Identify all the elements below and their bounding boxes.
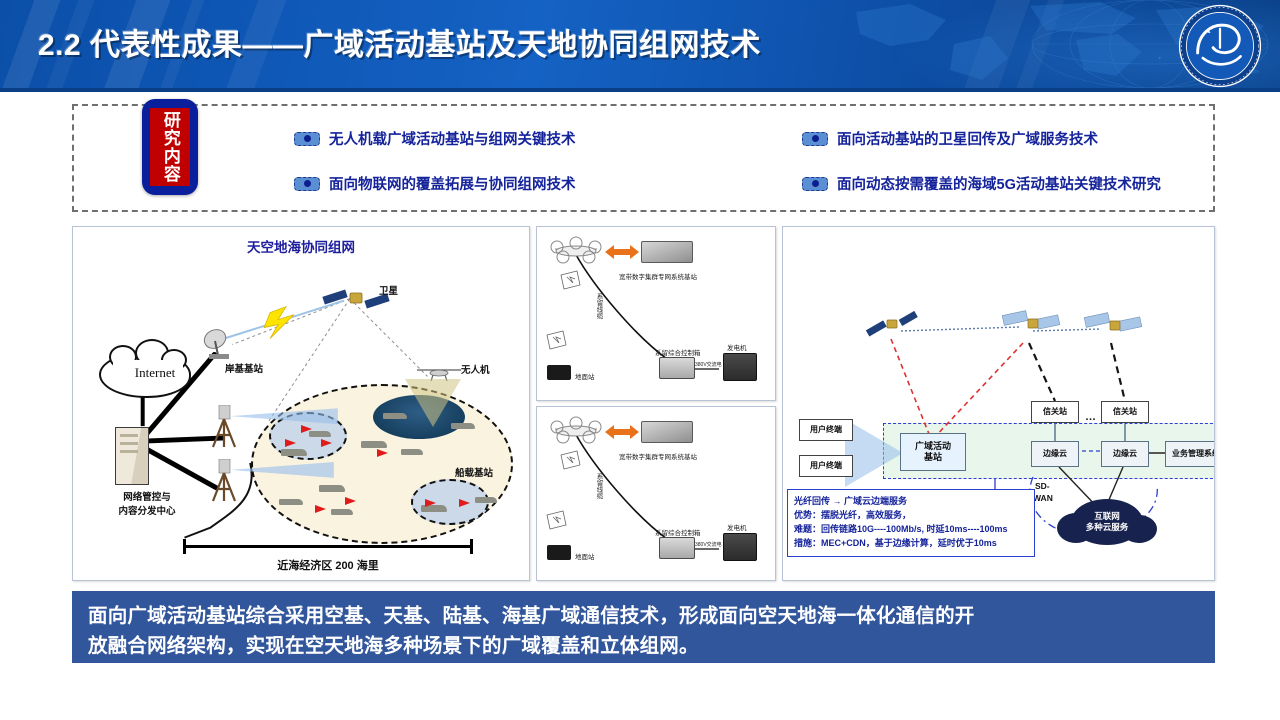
summary-line-2: 放融合网络架构，实现在空天地海多种场景下的广域覆盖和立体组网。 [88,631,1199,661]
ship-station-label: 船载基站 [455,465,493,479]
ship-icon [281,449,307,456]
control-cabinet-icon [659,357,695,379]
panel-sky-sea-network: 天空地海协同组网 [72,226,530,581]
ground-tower-icon-2 [205,459,245,503]
power-label: 380V交流电 [695,361,722,368]
sdwan-label-line1: SD- [1035,481,1050,491]
bullet-dot-icon [294,177,320,191]
generator-icon [723,353,757,381]
service-management-label: 业务管理系统 [1172,449,1215,458]
gateway-station-node-2[interactable]: 信关站 [1101,401,1149,423]
bullet-dot-icon [294,132,320,146]
ship-icon [361,441,387,448]
page-title: 2.2 代表性成果——广域活动基站及天地协同组网技术 [38,20,761,64]
note-line-2: 优势：摆脱光纤，高效服务， [794,509,1028,523]
control-center-label-line1: 网络管控与 [101,489,193,503]
tether-cable-label: 系留线缆 [593,293,603,319]
research-item-2-label: 面向物联网的覆盖拓展与协同组网技术 [329,173,576,194]
control-cabinet-label: 系留综合控制箱 [655,527,701,537]
uav-coverage-beam [405,379,461,427]
research-item-1[interactable]: 无人机载广域活动基站与组网关键技术 [294,128,576,149]
research-item-2[interactable]: 面向物联网的覆盖拓展与协同组网技术 [294,173,576,194]
base-station-unit-icon [641,241,693,263]
edge-cloud-node-2[interactable]: 边缘云 [1101,441,1149,467]
internet-cloud-text: Internet [123,363,187,383]
edge-cloud-node-2-label: 边缘云 [1113,449,1137,458]
wide-area-base-station-label-1: 广域活动 [915,441,951,452]
edge-cloud-node-1-label: 边缘云 [1043,449,1067,458]
research-content-badge-inner: 研究内容 [150,108,190,186]
satellite-icon-right [1083,309,1143,345]
wide-area-base-station-node[interactable]: 广域活动 基站 [900,433,966,471]
satellite-icon-center [1001,307,1061,343]
gateway-station-node-2-label: 信关站 [1113,407,1137,416]
generator-label: 发电机 [727,342,747,352]
ground-station-laptop-icon [547,365,571,380]
satellite-dish-icon [199,327,237,363]
ship-icon [331,509,353,515]
ship-icon [309,431,331,437]
research-content-box: 研究内容 无人机载广域活动基站与组网关键技术 面向物联网的覆盖拓展与协同组网技术… [72,104,1215,212]
scale-label: 近海经济区 200 海里 [183,557,473,573]
summary-banner: 面向广域活动基站综合采用空基、天基、陆基、海基广域通信技术，形成面向空天地海一体… [72,591,1215,663]
control-cabinet-label: 系留综合控制箱 [655,347,701,357]
internet-cloud-label-2: 多种云服务 [1086,522,1129,533]
bullet-dot-icon [802,132,828,146]
ship-icon [401,449,423,455]
research-item-3[interactable]: 面向活动基站的卫星回传及广域服务技术 [802,128,1098,149]
generator-icon [723,533,757,561]
gateway-station-node-1-label: 信关站 [1043,407,1067,416]
link-arrow-icon [377,449,388,457]
slide-header: 2.2 代表性成果——广域活动基站及天地协同组网技术 [0,0,1280,88]
research-item-4[interactable]: 面向动态按需覆盖的海域5G活动基站关键技术研究 [802,173,1161,194]
power-label: 380V交流电 [695,541,722,548]
summary-line-1: 面向广域活动基站综合采用空基、天基、陆基、海基广域通信技术，形成面向空天地海一体… [88,601,1199,631]
ground-tower-icon-1 [205,405,245,449]
note-line-1: 光纤回传 → 广域云边端服务 [794,495,1028,509]
note-line-4: 措施：MEC+CDN，基于边缘计算，延时优于10ms [794,537,1028,551]
header-divider [0,88,1280,92]
link-double-arrow-icon [613,429,631,435]
gateway-ellipsis: … [1085,411,1096,423]
link-arrow-icon [285,439,296,447]
base-station-unit-icon [641,421,693,443]
fiber-backhaul-note: 光纤回传 → 广域云边端服务 优势：摆脱光纤，高效服务， 难题：回传链路10G-… [787,489,1035,557]
service-management-node[interactable]: 业务管理系统 [1165,441,1215,467]
ground-station-label: 地面站 [575,371,595,381]
network-control-center-icon [115,427,149,485]
user-terminal-node-1[interactable]: 用户终端 [799,419,853,441]
research-item-4-label: 面向动态按需覆盖的海域5G活动基站关键技术研究 [837,173,1161,194]
research-content-badge-label: 研究内容 [161,111,179,183]
internet-cloud-label-1: 互联网 [1086,511,1129,522]
edge-cloud-node-1[interactable]: 边缘云 [1031,441,1079,467]
note-line-3: 难题：回传链路10G----100Mb/s, 时延10ms----100ms [794,523,1028,537]
user-terminal-node-1-label: 用户终端 [810,425,842,434]
base-station-label: 宽带数字集群专网系统基站 [619,271,697,281]
ground-station-label: 地面站 [575,551,595,561]
bullet-dot-icon [802,177,828,191]
internet-cloud-node: 互联网 多种云服务 [1071,499,1143,545]
research-content-badge: 研究内容 [142,99,198,195]
link-arrow-icon [321,439,332,447]
research-item-1-label: 无人机载广域活动基站与组网关键技术 [329,128,576,149]
panel-tethered-uav-b: 宽带数字集群专网系统基站 系留线缆 地面站 系留综合控制箱 发电机 380V交流… [536,406,776,581]
panel-satellite-backhaul: 用户终端 用户终端 广域活动 基站 信关站 … 信关站 边缘云 边缘云 业务管理… [782,226,1215,581]
wide-area-base-station-label-2: 基站 [915,452,951,463]
tether-cable-label: 系留线缆 [593,473,603,499]
link-arrow-icon [301,425,312,433]
shore-station-label: 岸基基站 [225,361,263,375]
base-station-label: 宽带数字集群专网系统基站 [619,451,697,461]
link-arrow-icon [345,497,356,505]
user-terminal-node-2[interactable]: 用户终端 [799,455,853,477]
research-item-3-label: 面向活动基站的卫星回传及广域服务技术 [837,128,1098,149]
ship-icon [319,485,345,492]
link-double-arrow-icon [613,249,631,255]
link-arrow-icon [425,499,436,507]
ground-station-laptop-icon [547,545,571,560]
aggregation-funnel [845,419,903,487]
ship-icon [383,413,407,419]
generator-label: 发电机 [727,522,747,532]
link-arrow-icon [459,499,470,507]
ship-icon [279,499,303,505]
link-arrow-icon [315,505,326,513]
university-logo [1174,3,1266,88]
satellite-icon-left [865,309,921,345]
gateway-station-node-1[interactable]: 信关站 [1031,401,1079,423]
ship-icon [451,423,475,429]
sdwan-label-line2: WAN [1033,493,1053,503]
slide-root: 2.2 代表性成果——广域活动基站及天地协同组网技术 研究内容 无人机载广域活动… [0,0,1280,720]
control-cabinet-icon [659,537,695,559]
panel-tethered-uav-a: 宽带数字集群专网系统基站 系留线缆 地面站 系留综合控制箱 发电机 380V交流… [536,226,776,401]
uav-label: 无人机 [461,362,490,376]
user-terminal-node-2-label: 用户终端 [810,461,842,470]
scale-ruler [183,539,473,553]
satellite-label: 卫星 [379,283,398,297]
ship-icon [475,497,497,503]
control-center-label-line2: 内容分发中心 [101,503,193,517]
